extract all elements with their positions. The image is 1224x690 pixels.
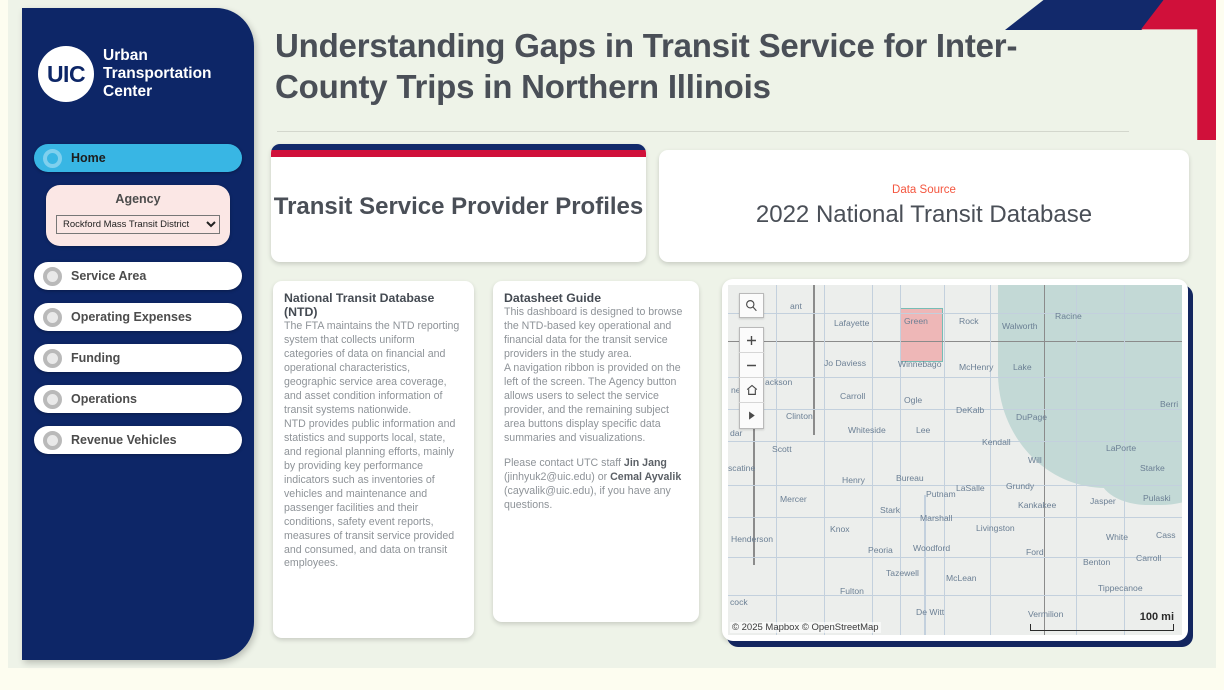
county-grid-line xyxy=(728,517,1182,518)
sidebar-item-label: Service Area xyxy=(71,269,146,283)
county-label: Kankakee xyxy=(1018,500,1056,510)
county-label: Green xyxy=(904,316,928,326)
county-label: Henderson xyxy=(731,534,773,544)
county-label: McHenry xyxy=(959,362,993,372)
data-source-card: Data Source 2022 National Transit Databa… xyxy=(659,150,1189,262)
profiles-card-title: Transit Service Provider Profiles xyxy=(274,183,644,222)
contact-name-1: Jin Jang xyxy=(624,457,667,469)
circle-icon xyxy=(43,390,62,409)
search-icon[interactable] xyxy=(739,294,764,317)
county-grid-line xyxy=(776,285,777,635)
county-label: Marshall xyxy=(920,513,952,523)
sidebar-item-label: Revenue Vehicles xyxy=(71,433,177,447)
circle-icon xyxy=(43,349,62,368)
data-source-value: 2022 National Transit Database xyxy=(756,201,1092,229)
circle-icon xyxy=(43,308,62,327)
county-label: Woodford xyxy=(913,543,950,553)
sidebar-nav: Home Agency Rockford Mass Transit Distri… xyxy=(22,144,254,454)
ntd-panel: National Transit Database (NTD) The FTA … xyxy=(273,281,474,638)
county-label: Jo Daviess xyxy=(824,358,866,368)
map-card[interactable]: antLafayetteGreenRockWalworthRacineJo Da… xyxy=(722,279,1188,641)
zoom-out-icon[interactable] xyxy=(739,353,764,378)
sidebar-item-operations[interactable]: Operations xyxy=(34,385,242,413)
county-grid-line xyxy=(728,409,1182,410)
ntd-panel-paragraph-1: The FTA maintains the NTD reporting syst… xyxy=(284,320,463,418)
profiles-card: Transit Service Provider Profiles xyxy=(271,144,646,262)
county-label: Bureau xyxy=(896,473,924,483)
map-canvas[interactable]: antLafayetteGreenRockWalworthRacineJo Da… xyxy=(728,285,1182,635)
map-search-control[interactable] xyxy=(739,293,764,318)
county-label: Berri xyxy=(1160,399,1178,409)
contact-prefix: Please contact UTC staff xyxy=(504,457,624,469)
county-label: Stark xyxy=(880,505,900,515)
county-grid-line xyxy=(728,441,1182,442)
agency-select[interactable]: Rockford Mass Transit District xyxy=(56,215,220,234)
agency-title: Agency xyxy=(56,192,220,206)
county-grid-line xyxy=(728,595,1182,596)
map-scale-label: 100 mi xyxy=(1030,612,1174,623)
county-label: De Witt xyxy=(916,607,944,617)
state-border-line xyxy=(728,341,1182,342)
map-scale-bar xyxy=(1030,624,1174,631)
county-label: Ogle xyxy=(904,395,922,405)
dashboard-root: UIC Urban Transportation Center Home Age… xyxy=(0,0,1224,690)
county-grid-line xyxy=(1076,285,1077,635)
county-grid-line xyxy=(872,285,873,635)
county-label: Benton xyxy=(1083,557,1110,567)
county-grid-line xyxy=(900,285,901,635)
page-title: Understanding Gaps in Transit Service fo… xyxy=(275,26,1095,108)
county-grid-line xyxy=(824,285,825,635)
county-grid-line xyxy=(728,377,1182,378)
county-grid-line xyxy=(728,557,1182,558)
county-label: Carroll xyxy=(840,391,865,401)
brand-name: Urban Transportation Center xyxy=(103,47,254,101)
sidebar-item-home[interactable]: Home xyxy=(34,144,242,172)
county-label: Winnebago xyxy=(898,359,941,369)
county-label: Knox xyxy=(830,524,850,534)
uic-logo: UIC xyxy=(38,46,94,102)
county-label: Carroll xyxy=(1136,553,1161,563)
home-icon[interactable] xyxy=(739,378,764,403)
county-label: Mercer xyxy=(780,494,807,504)
contact-suffix: (cayvalik@uic.edu), if you have any ques… xyxy=(504,485,671,511)
ntd-panel-heading: National Transit Database (NTD) xyxy=(284,291,463,319)
county-label: Racine xyxy=(1055,311,1082,321)
county-label: Putnam xyxy=(926,489,956,499)
county-label: Scott xyxy=(772,444,792,454)
county-label: LaSalle xyxy=(956,483,985,493)
county-label: McLean xyxy=(946,573,977,583)
county-label: ant xyxy=(790,301,802,311)
county-label: Livingston xyxy=(976,523,1015,533)
sidebar-item-label: Home xyxy=(71,151,106,165)
county-label: DuPage xyxy=(1016,412,1047,422)
sidebar-item-label: Operating Expenses xyxy=(71,310,192,324)
sidebar-item-funding[interactable]: Funding xyxy=(34,344,242,372)
agency-panel: Agency Rockford Mass Transit District xyxy=(46,185,230,246)
county-grid-line xyxy=(728,313,1182,314)
county-label: Walworth xyxy=(1002,321,1038,331)
county-label: Lee xyxy=(916,425,930,435)
county-label: Pulaski xyxy=(1143,493,1171,503)
county-label: ackson xyxy=(765,377,792,387)
sidebar: UIC Urban Transportation Center Home Age… xyxy=(22,8,254,660)
guide-panel-paragraph-2: A navigation ribbon is provided on the l… xyxy=(504,362,688,446)
circle-icon xyxy=(43,149,62,168)
county-grid-line xyxy=(990,285,991,635)
county-label: Will xyxy=(1028,455,1042,465)
mississippi-river xyxy=(813,285,815,435)
guide-panel-paragraph-1: This dashboard is designed to browse the… xyxy=(504,306,688,362)
county-label: Rock xyxy=(959,316,979,326)
contact-name-2: Cemal Ayvalik xyxy=(610,471,681,483)
county-label: Starke xyxy=(1140,463,1165,473)
county-grid-line xyxy=(728,485,1182,486)
guide-panel-contact: Please contact UTC staff Jin Jang (jinhy… xyxy=(504,457,688,513)
sidebar-item-operating-expenses[interactable]: Operating Expenses xyxy=(34,303,242,331)
map-zoom-controls[interactable] xyxy=(739,327,764,429)
data-source-label: Data Source xyxy=(892,184,956,196)
sidebar-item-revenue-vehicles[interactable]: Revenue Vehicles xyxy=(34,426,242,454)
guide-panel: Datasheet Guide This dashboard is design… xyxy=(493,281,699,622)
county-label: White xyxy=(1106,532,1128,542)
county-label: Cass xyxy=(1156,530,1176,540)
county-label: Peoria xyxy=(868,545,893,555)
sidebar-item-label: Funding xyxy=(71,351,120,365)
sidebar-item-service-area[interactable]: Service Area xyxy=(34,262,242,290)
county-label: dar xyxy=(730,428,742,438)
county-label: scatine xyxy=(728,463,755,473)
brand: UIC Urban Transportation Center xyxy=(22,8,254,102)
guide-panel-heading: Datasheet Guide xyxy=(504,291,688,305)
county-label: Jasper xyxy=(1090,496,1116,506)
ntd-panel-paragraph-2: NTD provides public information and stat… xyxy=(284,418,463,572)
play-icon[interactable] xyxy=(739,403,764,428)
county-label: Ford xyxy=(1026,547,1044,557)
county-label: DeKalb xyxy=(956,405,984,415)
title-divider xyxy=(277,131,1129,132)
county-label: Tippecanoe xyxy=(1098,583,1143,593)
county-label: LaPorte xyxy=(1106,443,1136,453)
county-label: Henry xyxy=(842,475,865,485)
county-label: Grundy xyxy=(1006,481,1034,491)
state-border-in xyxy=(1044,285,1045,635)
county-label: cock xyxy=(730,597,748,607)
county-label: Kendall xyxy=(982,437,1011,447)
county-label: Whiteside xyxy=(848,425,886,435)
circle-icon xyxy=(43,431,62,450)
map-scale: 100 mi xyxy=(1030,612,1174,631)
county-label: Fulton xyxy=(840,586,864,596)
contact-middle: (jinhyuk2@uic.edu) or xyxy=(504,471,610,483)
county-label: Lafayette xyxy=(834,318,869,328)
circle-icon xyxy=(43,267,62,286)
county-label: Lake xyxy=(1013,362,1032,372)
map-attribution[interactable]: © 2025 Mapbox © OpenStreetMap xyxy=(730,622,881,633)
sidebar-item-label: Operations xyxy=(71,392,137,406)
county-grid-line xyxy=(944,285,945,635)
county-label: Tazewell xyxy=(886,568,919,578)
county-label: Clinton xyxy=(786,411,813,421)
zoom-in-icon[interactable] xyxy=(739,328,764,353)
